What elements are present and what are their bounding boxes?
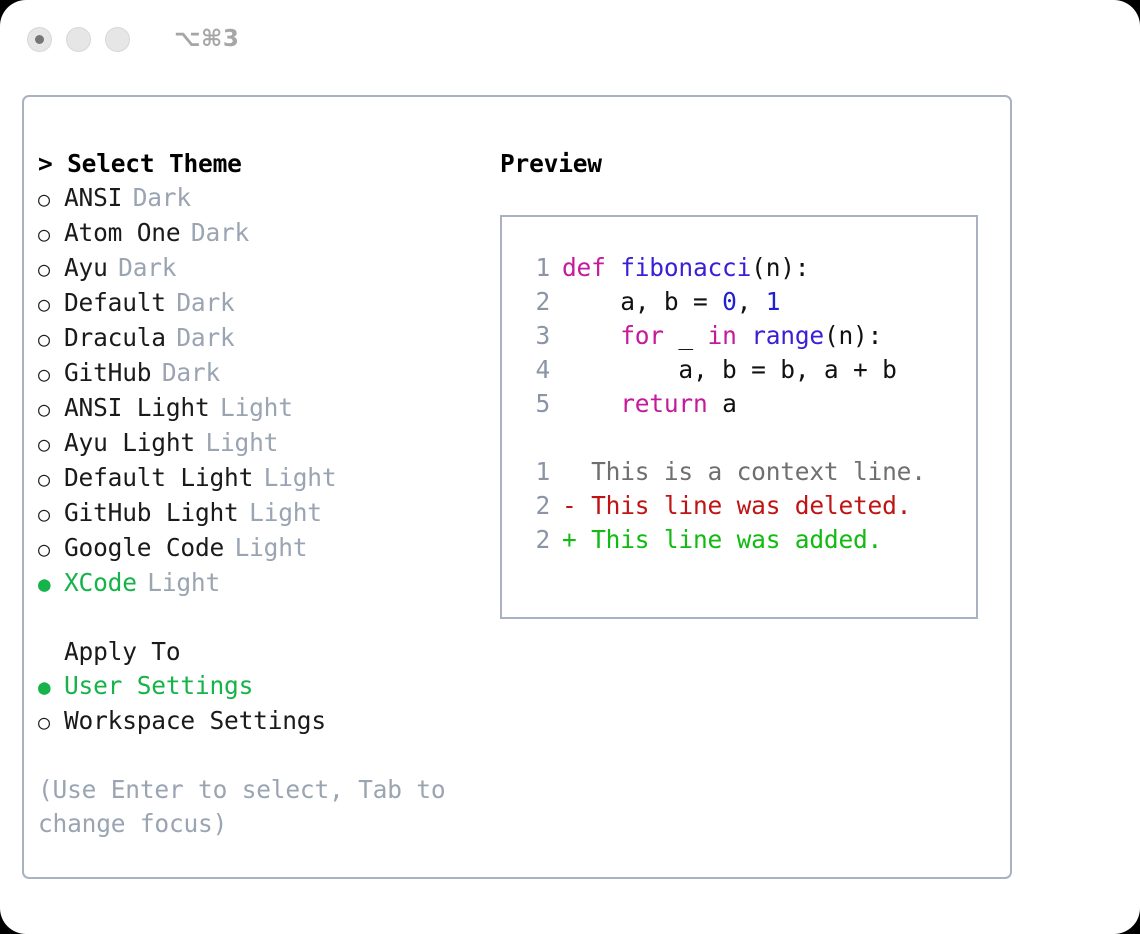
- code-text: a, b = b, a + b: [562, 353, 897, 387]
- code-token: def: [562, 253, 620, 282]
- circle-button-3[interactable]: [105, 27, 130, 52]
- apply-to-option-user-settings[interactable]: ●User Settings: [38, 669, 498, 704]
- code-token: return: [620, 389, 707, 418]
- code-line: 3 for _ in range(n):: [518, 319, 976, 353]
- code-token: 1: [766, 287, 781, 316]
- keyboard-shortcut-label: ⌥⌘3: [174, 26, 239, 52]
- theme-name: Atom One: [64, 216, 180, 250]
- preview-box: 1def fibonacci(n):2 a, b = 0, 13 for _ i…: [500, 215, 978, 619]
- code-line: 2 a, b = 0, 1: [518, 285, 976, 319]
- list-spacer: [38, 601, 498, 635]
- theme-variant-label: Light: [235, 531, 308, 565]
- code-token: (n):: [751, 253, 809, 282]
- theme-name: ANSI: [64, 181, 122, 215]
- apply-to-label: User Settings: [64, 669, 253, 703]
- main-panel: > Select Theme ○ANSIDark○Atom OneDark○Ay…: [22, 95, 1012, 879]
- radio-unselected-icon: ○: [38, 462, 64, 496]
- keyboard-hint-text: (Use Enter to select, Tab to change focu…: [38, 773, 458, 841]
- code-text: for _ in range(n):: [562, 319, 882, 353]
- theme-option-ayu[interactable]: ○AyuDark: [38, 251, 498, 286]
- line-number: 1: [518, 455, 550, 489]
- theme-name: GitHub Light: [64, 496, 239, 530]
- radio-unselected-icon: ○: [38, 427, 64, 461]
- line-number: 2: [518, 489, 550, 523]
- theme-variant-label: Dark: [162, 356, 220, 390]
- code-token: [737, 321, 752, 350]
- code-line: 5 return a: [518, 387, 976, 421]
- radio-unselected-icon: ○: [38, 322, 64, 356]
- line-number: 4: [518, 353, 550, 387]
- code-token: a, b = b, a + b: [562, 355, 897, 384]
- theme-name: Default: [64, 286, 166, 320]
- theme-variant-label: Light: [205, 426, 278, 460]
- code-token: _: [664, 321, 708, 350]
- code-token: a, b =: [562, 287, 722, 316]
- code-token: 0: [722, 287, 737, 316]
- diff-text: This is a context line.: [562, 455, 926, 489]
- theme-variant-label: Light: [249, 496, 322, 530]
- select-theme-heading: > Select Theme: [38, 147, 498, 181]
- theme-name: XCode: [64, 566, 137, 600]
- code-line: 4 a, b = b, a + b: [518, 353, 976, 387]
- code-diff-separator: [518, 421, 976, 455]
- radio-selected-icon: ●: [38, 670, 64, 704]
- preview-heading: Preview: [500, 147, 1000, 181]
- theme-name: Google Code: [64, 531, 224, 565]
- apply-to-label: Workspace Settings: [64, 704, 326, 738]
- line-number: 5: [518, 387, 550, 421]
- theme-option-atom-one[interactable]: ○Atom OneDark: [38, 216, 498, 251]
- apply-to-heading: Apply To: [38, 635, 498, 669]
- theme-variant-label: Dark: [118, 251, 176, 285]
- circle-button-2[interactable]: [66, 27, 91, 52]
- app-window: ⌥⌘3 > Select Theme ○ANSIDark○Atom OneDar…: [0, 0, 1140, 934]
- theme-variant-label: Dark: [191, 216, 249, 250]
- theme-variant-label: Dark: [133, 181, 191, 215]
- code-token: (n):: [824, 321, 882, 350]
- theme-option-github[interactable]: ○GitHubDark: [38, 356, 498, 391]
- code-text: return a: [562, 387, 737, 421]
- theme-variant-label: Light: [147, 566, 220, 600]
- code-token: ,: [737, 287, 766, 316]
- line-number: 3: [518, 319, 550, 353]
- theme-variant-label: Dark: [176, 286, 234, 320]
- radio-unselected-icon: ○: [38, 357, 64, 391]
- diff-sample: 1 This is a context line.2- This line wa…: [518, 455, 976, 557]
- record-dot-button[interactable]: [27, 27, 52, 52]
- title-bar: ⌥⌘3: [0, 0, 1140, 78]
- theme-option-default-light[interactable]: ○Default LightLight: [38, 461, 498, 496]
- code-token: for: [620, 321, 664, 350]
- code-token: range: [751, 321, 824, 350]
- theme-name: GitHub: [64, 356, 151, 390]
- theme-option-google-code[interactable]: ○Google CodeLight: [38, 531, 498, 566]
- radio-unselected-icon: ○: [38, 705, 64, 739]
- preview-column: Preview 1def fibonacci(n):2 a, b = 0, 13…: [500, 147, 1000, 619]
- radio-unselected-icon: ○: [38, 217, 64, 251]
- code-text: a, b = 0, 1: [562, 285, 780, 319]
- theme-list[interactable]: ○ANSIDark○Atom OneDark○AyuDark○DefaultDa…: [38, 181, 498, 601]
- theme-option-ansi-light[interactable]: ○ANSI LightLight: [38, 391, 498, 426]
- theme-option-ansi[interactable]: ○ANSIDark: [38, 181, 498, 216]
- diff-text: + This line was added.: [562, 523, 882, 557]
- radio-unselected-icon: ○: [38, 287, 64, 321]
- code-token: [562, 389, 620, 418]
- radio-unselected-icon: ○: [38, 532, 64, 566]
- theme-option-ayu-light[interactable]: ○Ayu LightLight: [38, 426, 498, 461]
- theme-option-dracula[interactable]: ○DraculaDark: [38, 321, 498, 356]
- diff-line: 2- This line was deleted.: [518, 489, 976, 523]
- code-token: fibonacci: [620, 253, 751, 282]
- code-text: def fibonacci(n):: [562, 251, 809, 285]
- theme-name: Dracula: [64, 321, 166, 355]
- line-number: 2: [518, 285, 550, 319]
- theme-option-github-light[interactable]: ○GitHub LightLight: [38, 496, 498, 531]
- code-token: [562, 321, 620, 350]
- theme-variant-label: Light: [264, 461, 337, 495]
- record-dot-icon: [35, 35, 44, 44]
- radio-selected-icon: ●: [38, 567, 64, 601]
- radio-unselected-icon: ○: [38, 392, 64, 426]
- theme-option-xcode[interactable]: ●XCodeLight: [38, 566, 498, 601]
- theme-name: Ayu: [64, 251, 108, 285]
- theme-name: ANSI Light: [64, 391, 210, 425]
- theme-name: Default Light: [64, 461, 253, 495]
- theme-variant-label: Dark: [176, 321, 234, 355]
- diff-line: 2+ This line was added.: [518, 523, 976, 557]
- theme-variant-label: Light: [220, 391, 293, 425]
- theme-selection-column: > Select Theme ○ANSIDark○Atom OneDark○Ay…: [38, 147, 498, 841]
- line-number: 1: [518, 251, 550, 285]
- code-token: in: [708, 321, 737, 350]
- code-token: a: [708, 389, 737, 418]
- radio-unselected-icon: ○: [38, 182, 64, 216]
- theme-option-default[interactable]: ○DefaultDark: [38, 286, 498, 321]
- diff-line: 1 This is a context line.: [518, 455, 976, 489]
- diff-text: - This line was deleted.: [562, 489, 911, 523]
- code-line: 1def fibonacci(n):: [518, 251, 976, 285]
- theme-name: Ayu Light: [64, 426, 195, 460]
- code-sample: 1def fibonacci(n):2 a, b = 0, 13 for _ i…: [518, 251, 976, 421]
- radio-unselected-icon: ○: [38, 497, 64, 531]
- apply-to-list[interactable]: ●User Settings○Workspace Settings: [38, 669, 498, 739]
- line-number: 2: [518, 523, 550, 557]
- apply-to-option-workspace-settings[interactable]: ○Workspace Settings: [38, 704, 498, 739]
- radio-unselected-icon: ○: [38, 252, 64, 286]
